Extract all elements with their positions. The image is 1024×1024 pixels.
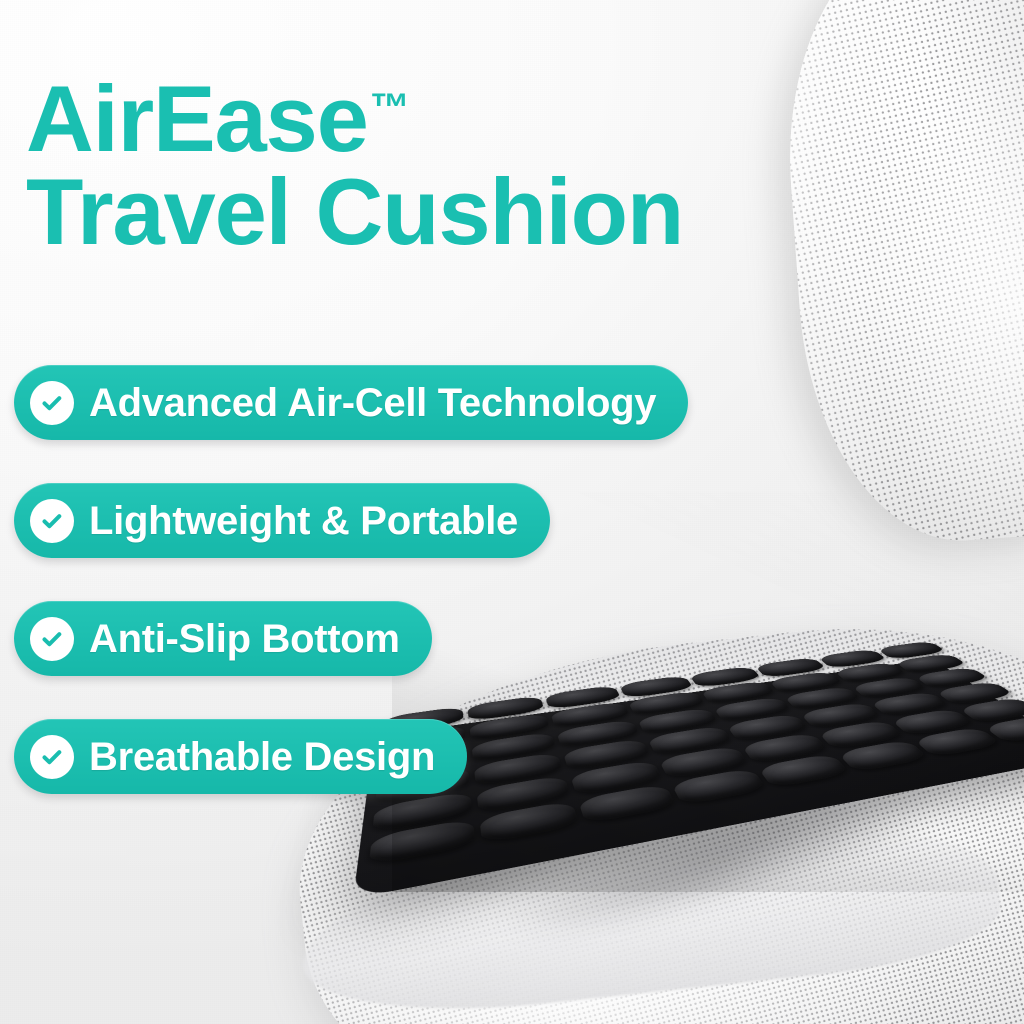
title-line-2: Travel Cushion	[26, 165, 786, 258]
check-circle-icon	[30, 617, 74, 661]
feature-pill-label: Lightweight & Portable	[89, 501, 518, 541]
feature-pill-label: Advanced Air-Cell Technology	[89, 383, 656, 423]
title-line-1: AirEase™	[26, 72, 786, 165]
check-circle-icon	[30, 381, 74, 425]
feature-list: Advanced Air-Cell Technology Lightweight…	[14, 365, 688, 794]
brand-name: AirEase	[26, 66, 368, 171]
trademark-symbol: ™	[370, 86, 410, 130]
check-circle-icon	[30, 735, 74, 779]
feature-pill-lightweight-portable[interactable]: Lightweight & Portable	[14, 483, 550, 558]
product-marketing-image: AirEase™ Travel Cushion Advanced Air-Cel…	[0, 0, 1024, 1024]
feature-pill-breathable-design[interactable]: Breathable Design	[14, 719, 467, 794]
feature-pill-advanced-air-cell-technology[interactable]: Advanced Air-Cell Technology	[14, 365, 688, 440]
feature-pill-label: Anti-Slip Bottom	[89, 619, 400, 659]
feature-pill-anti-slip-bottom[interactable]: Anti-Slip Bottom	[14, 601, 432, 676]
product-title: AirEase™ Travel Cushion	[26, 72, 786, 258]
feature-pill-label: Breathable Design	[89, 737, 435, 777]
check-circle-icon	[30, 499, 74, 543]
